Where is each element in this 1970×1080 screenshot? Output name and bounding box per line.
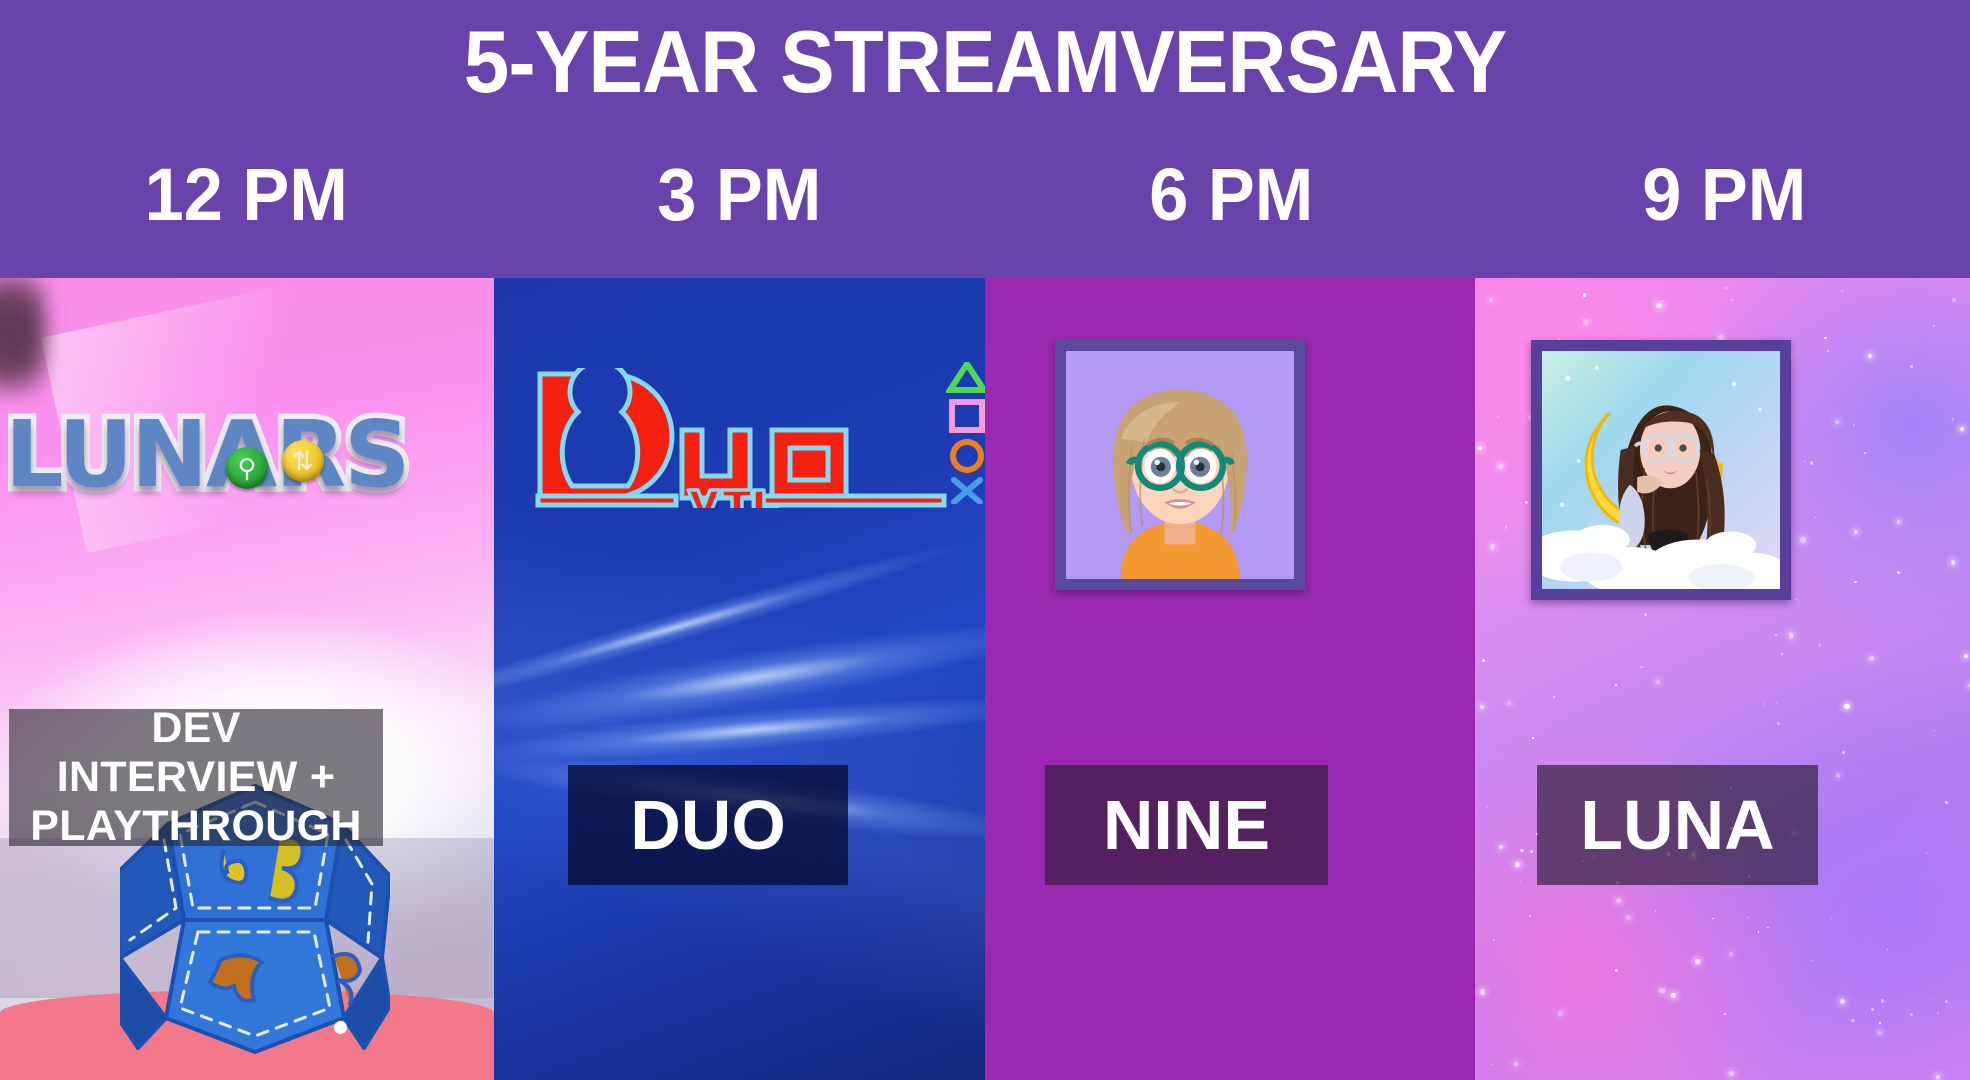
star-speck <box>1498 464 1503 469</box>
star-speck <box>1505 526 1508 529</box>
star-speck <box>1478 446 1482 450</box>
star-speck <box>1530 850 1533 853</box>
star-speck <box>1644 613 1647 616</box>
star-speck <box>1747 917 1749 919</box>
star-speck <box>1824 337 1826 339</box>
star-speck <box>1656 680 1660 684</box>
star-speck <box>1497 416 1499 418</box>
star-speck <box>1482 659 1486 663</box>
star-speck <box>1515 862 1520 867</box>
star-speck <box>1887 949 1888 950</box>
star-speck <box>1910 365 1913 368</box>
lunars-wordmark: LUNARS <box>5 403 405 507</box>
star-speck <box>1729 952 1733 956</box>
star-speck <box>1815 517 1816 518</box>
star-speck <box>1777 722 1780 725</box>
panel-1-corner-shadow <box>0 278 46 398</box>
star-speck <box>1964 654 1968 658</box>
star-speck <box>1781 653 1783 655</box>
star-speck <box>1731 299 1733 301</box>
star-speck <box>1844 704 1849 709</box>
star-speck <box>1656 303 1661 308</box>
panel-1-label-line-2: INTERVIEW + <box>57 753 335 801</box>
star-speck <box>1952 298 1955 301</box>
star-speck <box>1851 1019 1854 1022</box>
star-speck <box>1945 1000 1948 1003</box>
star-speck <box>1877 1031 1882 1036</box>
star-speck <box>1819 644 1821 646</box>
star-speck <box>1789 633 1793 637</box>
star-speck <box>1626 915 1631 920</box>
playstation-symbols <box>946 362 985 504</box>
star-speck <box>1487 806 1489 808</box>
star-speck <box>1480 705 1484 709</box>
star-speck <box>1558 1011 1563 1016</box>
star-speck <box>1910 1013 1913 1016</box>
panel-luna[interactable]: LUNA <box>1475 278 1970 1080</box>
star-speck <box>1841 290 1843 292</box>
panel-lunars[interactable]: LUNARS ⚲ ⇅ DEV INTERVIEW + PLAYTHROUGH <box>0 278 494 1080</box>
time-slot-1: 12 PM <box>12 140 480 250</box>
star-speck <box>1615 969 1618 972</box>
star-speck <box>1831 918 1833 920</box>
star-speck <box>1827 350 1829 352</box>
star-speck <box>1776 703 1777 704</box>
panel-1-label-line-1: DEV <box>151 704 240 752</box>
panel-1-speck <box>334 1021 347 1034</box>
star-speck <box>1933 998 1934 999</box>
panel-duo[interactable]: DUO <box>494 278 985 1080</box>
lunars-green-badge-icon: ⚲ <box>226 447 268 489</box>
star-speck <box>1836 773 1840 777</box>
star-speck <box>1812 960 1814 962</box>
triangle-icon <box>950 364 984 390</box>
star-speck <box>1960 427 1964 431</box>
star-speck <box>1583 319 1588 324</box>
star-speck <box>1553 696 1555 698</box>
star-speck <box>1936 1075 1940 1079</box>
panel-3-label: NINE <box>1045 765 1328 885</box>
page-title: 5-YEAR STREAMVERSARY <box>69 14 1901 110</box>
star-speck <box>1897 571 1900 574</box>
panel-2-label: DUO <box>568 765 848 885</box>
panel-strip: LUNARS ⚲ ⇅ DEV INTERVIEW + PLAYTHROUGH <box>0 278 1970 1080</box>
star-speck <box>1725 287 1727 289</box>
panel-1-label: DEV INTERVIEW + PLAYTHROUGH <box>9 709 383 846</box>
star-speck <box>1493 939 1495 941</box>
star-speck <box>1842 751 1845 754</box>
cross-icon <box>954 480 980 502</box>
star-speck <box>1514 1062 1518 1066</box>
star-speck <box>1796 599 1797 600</box>
star-speck <box>1520 849 1523 852</box>
star-speck <box>1926 852 1927 853</box>
star-speck <box>1640 666 1642 668</box>
time-slot-3: 6 PM <box>997 140 1465 250</box>
star-speck <box>1800 537 1805 542</box>
star-speck <box>1525 501 1528 504</box>
star-speck <box>1879 1022 1881 1024</box>
star-speck <box>1951 560 1956 565</box>
star-speck <box>1507 701 1511 705</box>
star-speck <box>1868 354 1872 358</box>
star-speck <box>1583 293 1586 296</box>
star-speck <box>1490 544 1495 549</box>
star-speck <box>1492 1064 1493 1065</box>
star-speck <box>1871 1008 1874 1011</box>
star-speck <box>1729 1071 1734 1076</box>
star-speck <box>1937 1012 1939 1014</box>
star-speck <box>1763 703 1764 704</box>
star-speck <box>1897 520 1901 524</box>
star-speck <box>1952 418 1954 420</box>
star-speck <box>1864 452 1866 454</box>
star-speck <box>1775 634 1777 636</box>
star-speck <box>1489 298 1493 302</box>
star-speck <box>1529 915 1531 917</box>
yarn-row-7 <box>985 988 1475 1080</box>
lunars-gold-badge-icon: ⇅ <box>282 440 324 482</box>
star-speck <box>1794 642 1795 643</box>
star-speck <box>1945 801 1948 804</box>
star-speck <box>1933 325 1935 327</box>
star-speck <box>1767 927 1768 928</box>
header-banner: 5-YEAR STREAMVERSARY 12 PM 3 PM 6 PM 9 P… <box>0 0 1970 278</box>
star-speck <box>1758 931 1760 933</box>
star-speck <box>1934 730 1935 731</box>
luna-avatar-frame <box>1531 340 1791 600</box>
star-speck <box>1532 737 1534 739</box>
panel-4-label: LUNA <box>1537 765 1818 885</box>
star-speck <box>1853 424 1855 426</box>
streamversary-schedule-graphic: 5-YEAR STREAMVERSARY 12 PM 3 PM 6 PM 9 P… <box>0 0 1970 1080</box>
panel-nine[interactable]: NINE <box>985 278 1475 1080</box>
square-icon <box>952 402 982 430</box>
time-slot-2: 3 PM <box>505 140 973 250</box>
star-speck <box>1835 420 1839 424</box>
star-speck <box>1869 656 1874 661</box>
nine-avatar-frame <box>1055 340 1305 590</box>
lunars-logo: LUNARS ⚲ ⇅ <box>5 403 405 513</box>
circle-icon <box>953 442 981 470</box>
star-speck <box>1499 845 1503 849</box>
star-speck <box>1615 684 1617 686</box>
star-speck <box>1659 988 1664 993</box>
duo-mtl-logo <box>532 368 952 508</box>
star-speck <box>1810 461 1813 464</box>
time-slot-4: 9 PM <box>1490 140 1958 250</box>
star-speck <box>1480 989 1485 994</box>
star-speck <box>1804 461 1806 463</box>
star-speck <box>1881 999 1884 1002</box>
star-speck <box>1840 999 1845 1004</box>
time-slot-row: 12 PM 3 PM 6 PM 9 PM <box>0 140 1970 250</box>
star-speck <box>1616 898 1621 903</box>
star-speck <box>1854 530 1858 534</box>
star-speck <box>1671 993 1676 998</box>
star-speck <box>1520 881 1521 882</box>
star-speck <box>1724 1013 1726 1015</box>
star-speck <box>1655 910 1657 912</box>
star-speck <box>1854 581 1857 584</box>
panel-1-label-line-3: PLAYTHROUGH <box>30 802 361 850</box>
star-speck <box>1712 918 1713 919</box>
star-speck <box>1695 959 1700 964</box>
